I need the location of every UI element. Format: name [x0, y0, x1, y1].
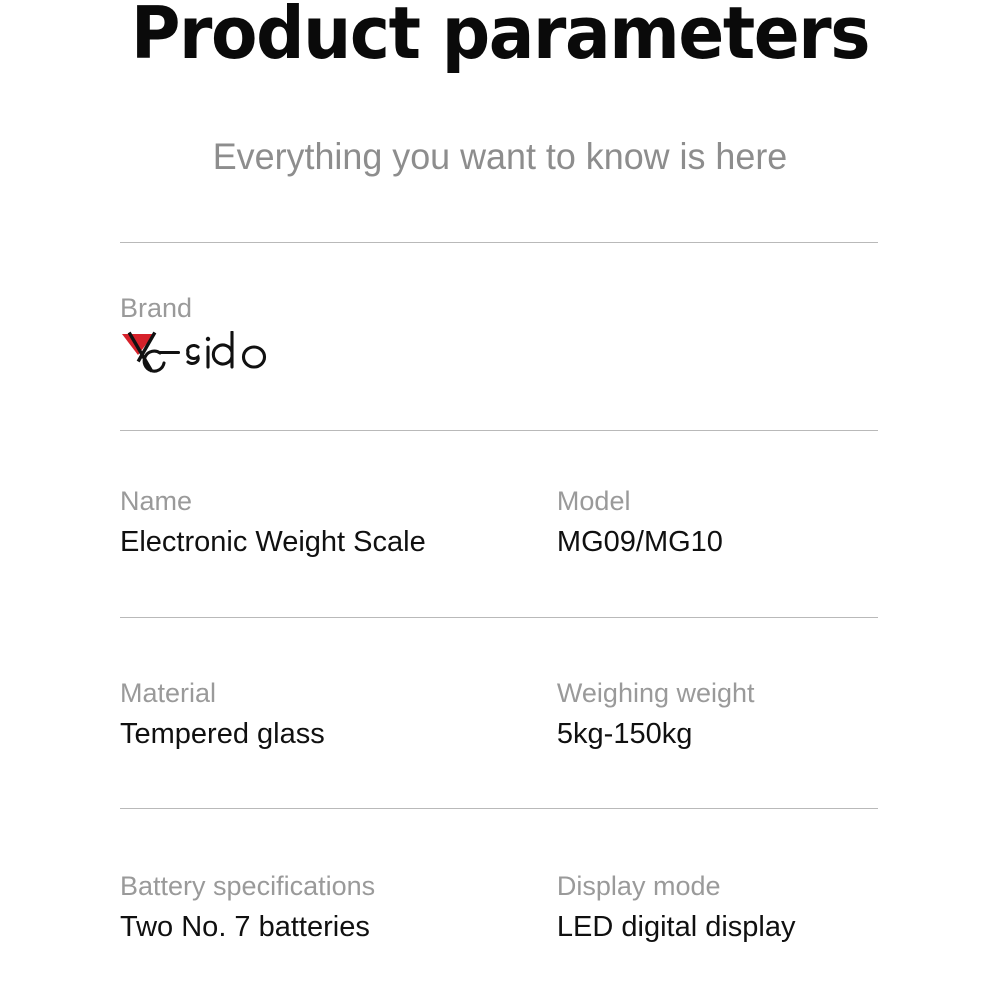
spec-label-battery: Battery specifications [120, 870, 557, 903]
spec-cell-battery: Battery specifications Two No. 7 batteri… [120, 870, 557, 947]
spec-cell-brand-right [557, 292, 910, 375]
spec-row-battery: Battery specifications Two No. 7 batteri… [120, 870, 910, 947]
spec-row-material: Material Tempered glass Weighing weight … [120, 677, 910, 754]
divider-top [120, 242, 878, 243]
logo-letter-o [244, 347, 265, 367]
spec-cell-display-mode: Display mode LED digital display [557, 870, 910, 947]
spec-value-display-mode: LED digital display [557, 909, 910, 947]
spec-value-name: Electronic Weight Scale [120, 524, 557, 562]
spec-value-material: Tempered glass [120, 716, 557, 754]
spec-label-name: Name [120, 485, 557, 518]
divider-after-material [120, 808, 878, 809]
logo-letter-s [188, 345, 199, 363]
spec-cell-weighing-weight: Weighing weight 5kg-150kg [557, 677, 910, 754]
spec-label-display-mode: Display mode [557, 870, 910, 903]
spec-row-name: Name Electronic Weight Scale Model MG09/… [120, 485, 910, 562]
product-parameters-page: Product parameters Everything you want t… [0, 0, 1000, 1000]
page-subtitle: Everything you want to know is here [15, 135, 985, 179]
spec-value-battery: Two No. 7 batteries [120, 909, 557, 947]
page-title: Product parameters [30, 0, 970, 76]
spec-cell-brand: Brand [120, 292, 557, 375]
logo-letter-d [213, 332, 232, 367]
logo-letter-e [144, 351, 178, 371]
spec-label-brand: Brand [120, 292, 557, 325]
spec-cell-model: Model MG09/MG10 [557, 485, 910, 562]
spec-cell-material: Material Tempered glass [120, 677, 557, 754]
spec-row-brand: Brand [120, 292, 910, 375]
logo-letter-i-dot [206, 337, 210, 341]
spec-label-material: Material [120, 677, 557, 710]
spec-value-weighing-weight: 5kg-150kg [557, 716, 910, 754]
spec-value-model: MG09/MG10 [557, 524, 910, 562]
yesido-logo [120, 331, 290, 375]
divider-after-name [120, 617, 878, 618]
spec-cell-name: Name Electronic Weight Scale [120, 485, 557, 562]
divider-after-brand [120, 430, 878, 431]
spec-label-model: Model [557, 485, 910, 518]
spec-label-weighing-weight: Weighing weight [557, 677, 910, 710]
